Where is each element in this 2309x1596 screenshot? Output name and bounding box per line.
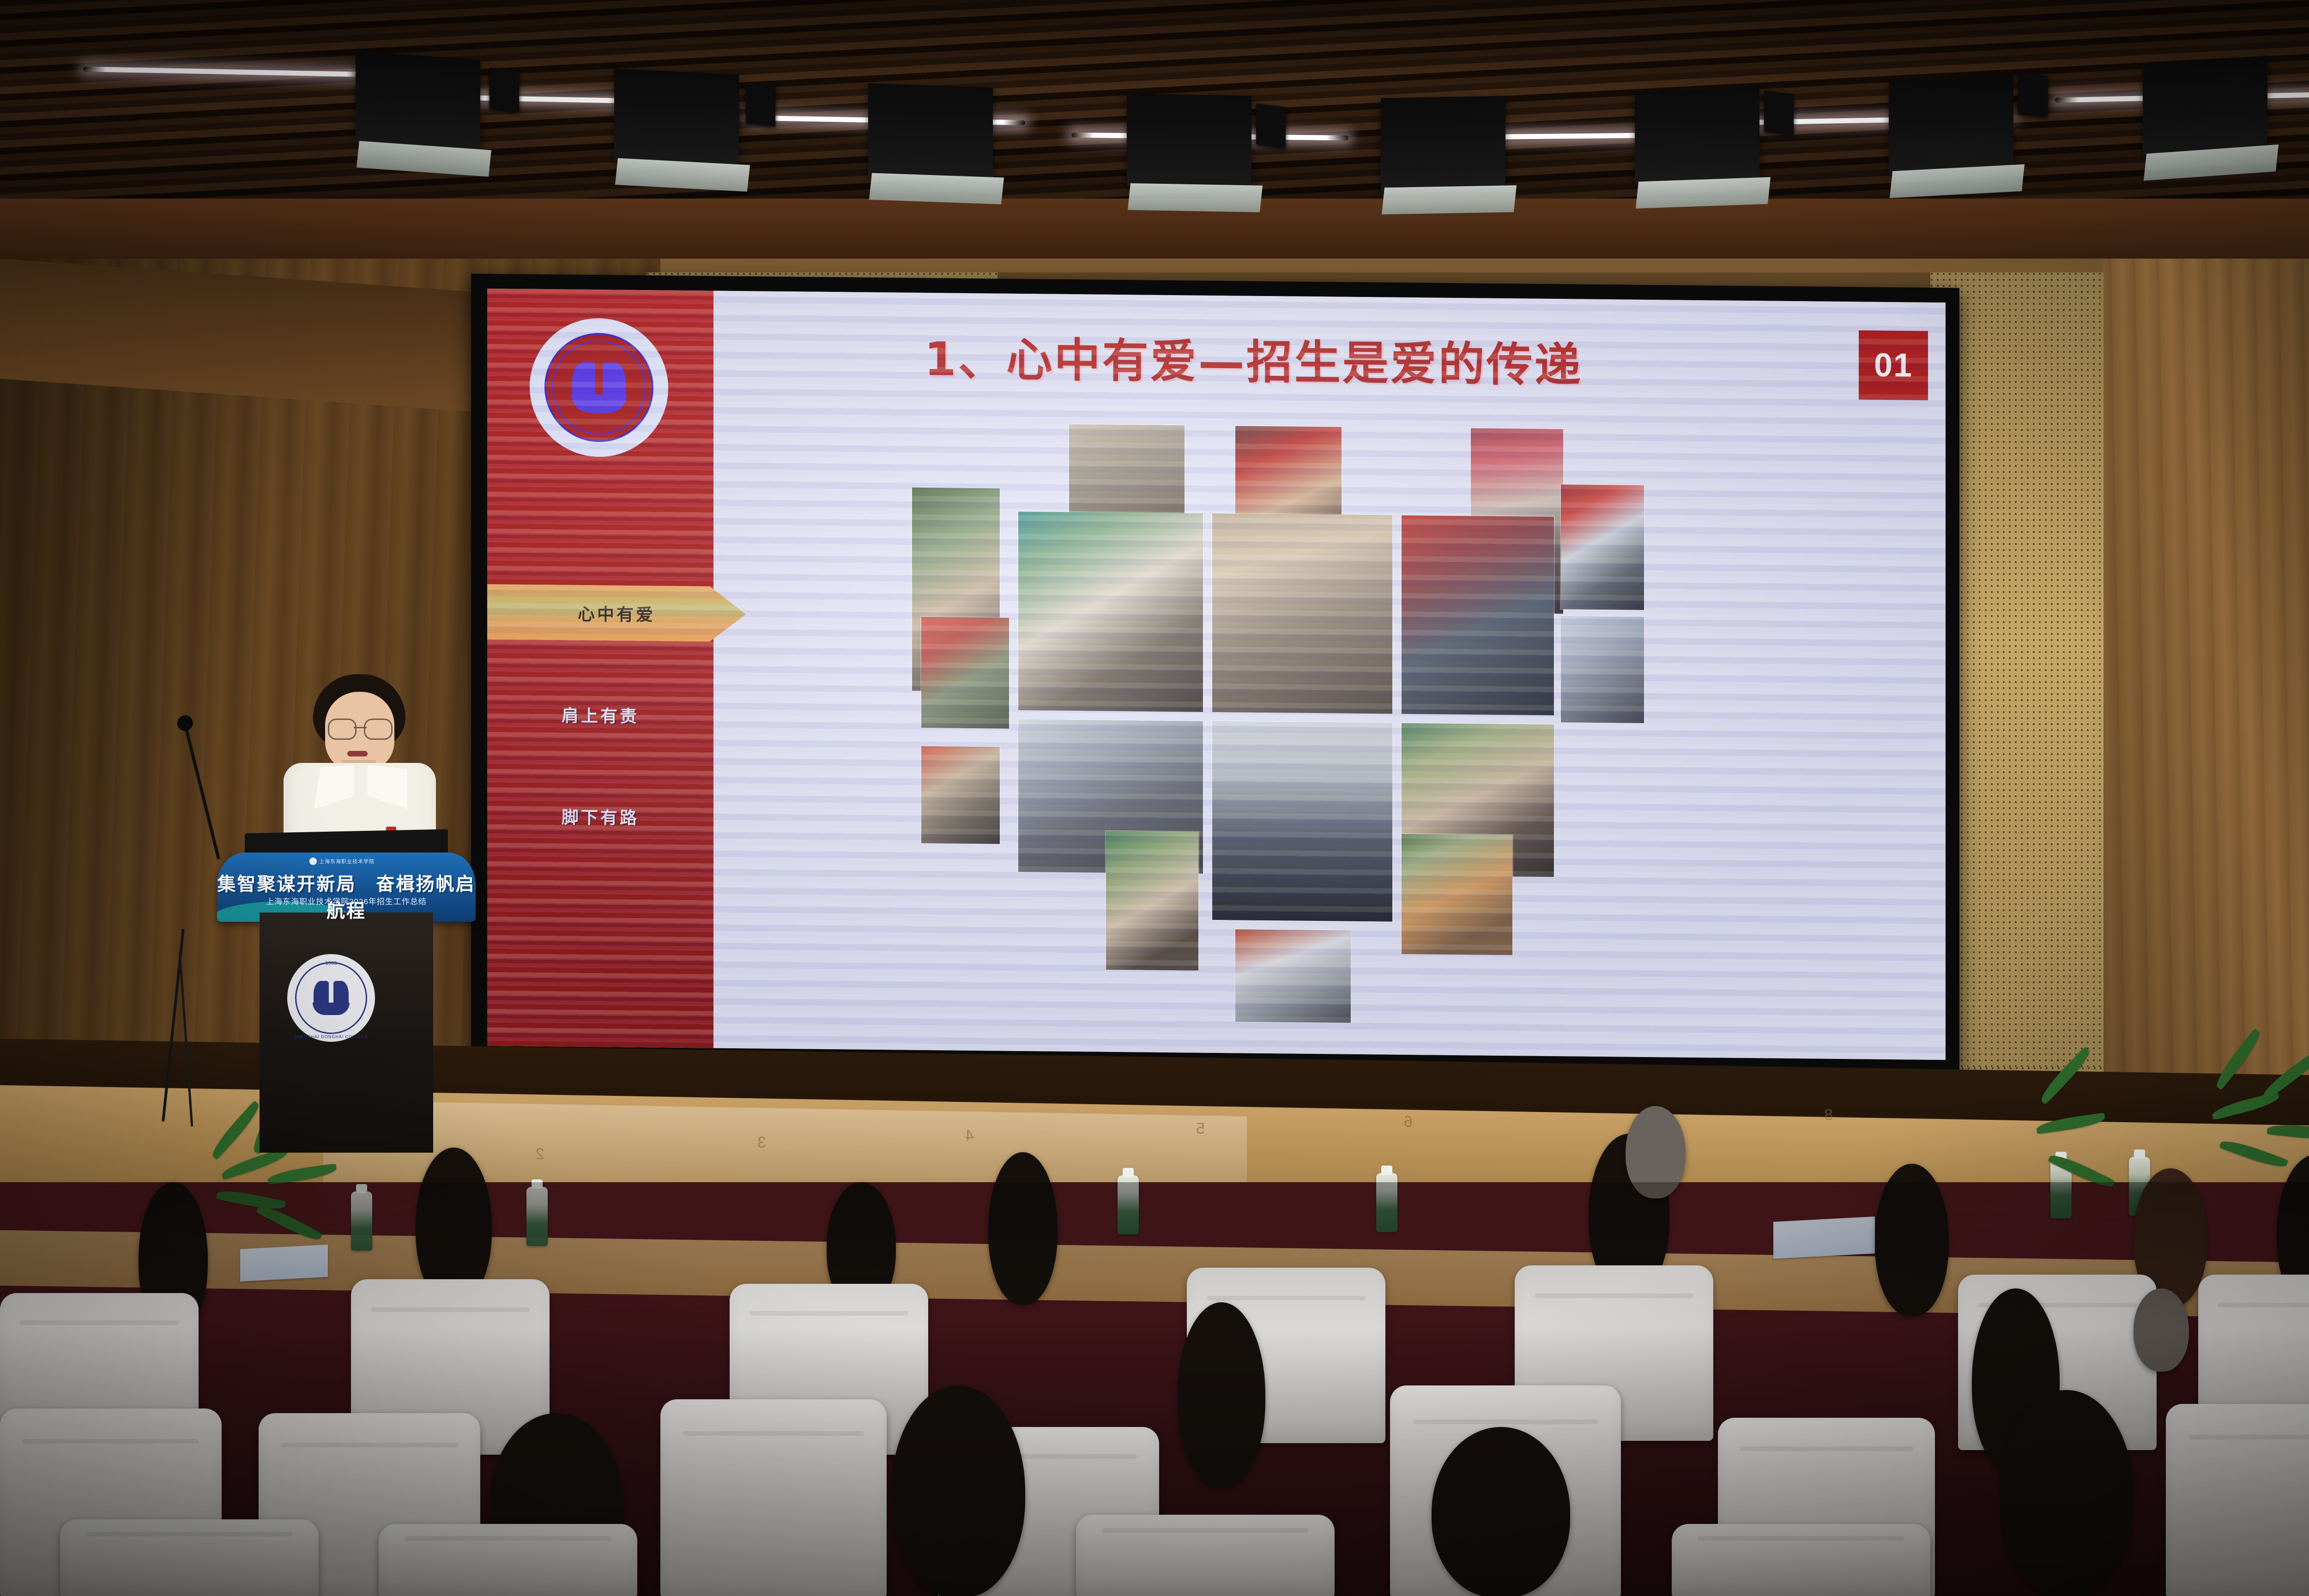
lectern: 上海东海职业技术学院 集智聚谋开新局 奋楫扬帆启航程 上海东海职业技术学院202… xyxy=(217,831,476,1187)
ceiling-baffle-2 xyxy=(614,68,739,167)
ceiling-baffle-5 xyxy=(1381,96,1505,191)
plant-leaf xyxy=(216,1187,286,1213)
college-emblem-slide xyxy=(530,318,668,458)
seat-number-4: 4 xyxy=(965,1127,974,1145)
collage-photo-9 xyxy=(1561,616,1644,723)
projection-screen[interactable]: 心中有爱 肩上有责 脚下有路 1、心中有爱—招生是爱的传递 01 xyxy=(487,289,1946,1060)
slide-section-badge: 01 xyxy=(1859,330,1928,400)
photo-collage xyxy=(912,423,1725,1027)
sidebar-item-0[interactable]: 心中有爱 xyxy=(487,584,746,642)
collage-photo-11 xyxy=(1212,721,1392,922)
event-banner: 上海东海职业技术学院 集智聚谋开新局 奋楫扬帆启航程 上海东海职业技术学院202… xyxy=(217,852,476,922)
seat-number-3: 3 xyxy=(757,1134,766,1152)
audience-chair[interactable] xyxy=(1672,1524,1930,1596)
collage-photo-5 xyxy=(921,617,1009,729)
audience-chair[interactable] xyxy=(2166,1404,2309,1596)
ceiling-baffle-6 xyxy=(1635,88,1759,184)
seat-number-8: 8 xyxy=(1824,1106,1833,1124)
spotlight-can-3 xyxy=(1256,103,1286,148)
seat-number-6: 6 xyxy=(1404,1113,1413,1131)
slide-title: 1、心中有爱—招生是爱的传递 xyxy=(713,320,1946,399)
audience-head xyxy=(1626,1106,1686,1198)
water-bottle-3[interactable] xyxy=(1118,1175,1139,1234)
presenter-mouth xyxy=(347,751,368,756)
plant-leaf xyxy=(2036,1112,2106,1134)
spotlight-can-2 xyxy=(746,82,775,127)
water-bottle-2[interactable] xyxy=(526,1187,548,1246)
collage-photo-13 xyxy=(1106,831,1198,971)
spotlight-can-5 xyxy=(2018,72,2048,116)
collage-photo-6 xyxy=(1018,512,1203,712)
plant-leaf xyxy=(2219,1137,2289,1172)
ceiling-baffle-3 xyxy=(868,83,993,180)
audience-head xyxy=(1432,1427,1570,1596)
collage-photo-8 xyxy=(1402,515,1554,715)
spotlight-can-4 xyxy=(1764,91,1794,135)
banner-logo-dot xyxy=(309,858,317,865)
plant-leaf xyxy=(2267,1122,2309,1142)
ceiling-baffle-8 xyxy=(2143,56,2267,157)
seat-number-2: 2 xyxy=(536,1145,544,1163)
glasses-icon xyxy=(328,719,393,737)
spotlight-can-1 xyxy=(490,67,519,112)
audience-head xyxy=(1178,1302,1265,1487)
event-banner-sub: 上海东海职业技术学院2026年招生工作总结 xyxy=(217,895,476,907)
auditorium-scene: 心中有爱 肩上有责 脚下有路 1、心中有爱—招生是爱的传递 01 xyxy=(0,0,2309,1596)
slide-sidebar-items: 心中有爱 肩上有责 脚下有路 xyxy=(487,584,713,891)
audience-chair[interactable] xyxy=(60,1519,319,1596)
slide-body: 1、心中有爱—招生是爱的传递 01 xyxy=(713,291,1946,1060)
collage-photo-15 xyxy=(1235,929,1351,1022)
plant-leaf xyxy=(256,1202,323,1245)
handout-paper-2[interactable] xyxy=(1773,1216,1875,1259)
audience-head xyxy=(891,1385,1025,1596)
plant-leaf xyxy=(2259,1050,2309,1100)
audience-head xyxy=(2000,1390,2134,1596)
ceiling-baffle-7 xyxy=(1889,75,2013,174)
collage-photo-16 xyxy=(1561,484,1644,610)
slide-sidebar-rail: 心中有爱 肩上有责 脚下有路 xyxy=(487,289,713,1048)
sidebar-item-1[interactable]: 肩上有责 xyxy=(487,686,713,744)
seat-number-5: 5 xyxy=(1196,1120,1205,1138)
audience-head xyxy=(988,1152,1058,1305)
emblem-arc-text: SHANGHAI DONGHAI COLLEGE xyxy=(287,1034,375,1039)
banner-logo-text: 上海东海职业技术学院 xyxy=(319,858,375,865)
audience-chair[interactable] xyxy=(660,1399,887,1596)
sidebar-item-2[interactable]: 脚下有路 xyxy=(487,787,713,845)
ceiling-baffle-1 xyxy=(356,51,480,152)
plant-leaf xyxy=(2048,1150,2115,1191)
collage-photo-17 xyxy=(921,746,1000,844)
emblem-year: 1993 xyxy=(287,961,375,966)
audience-head xyxy=(2134,1288,2189,1372)
lectern-body: 1993 SHANGHAI DONGHAI COLLEGE xyxy=(260,913,433,1153)
audience-chair[interactable] xyxy=(1076,1515,1335,1596)
audience-chair[interactable] xyxy=(379,1524,637,1596)
banner-logo: 上海东海职业技术学院 xyxy=(309,858,375,865)
water-bottle-4[interactable] xyxy=(1376,1173,1397,1232)
audience-head xyxy=(1875,1164,1949,1316)
collage-photo-14 xyxy=(1402,834,1512,955)
collage-photo-7 xyxy=(1212,514,1392,714)
ceiling-baffle-4 xyxy=(1127,94,1251,188)
college-emblem-lectern: 1993 SHANGHAI DONGHAI COLLEGE xyxy=(287,954,375,1042)
